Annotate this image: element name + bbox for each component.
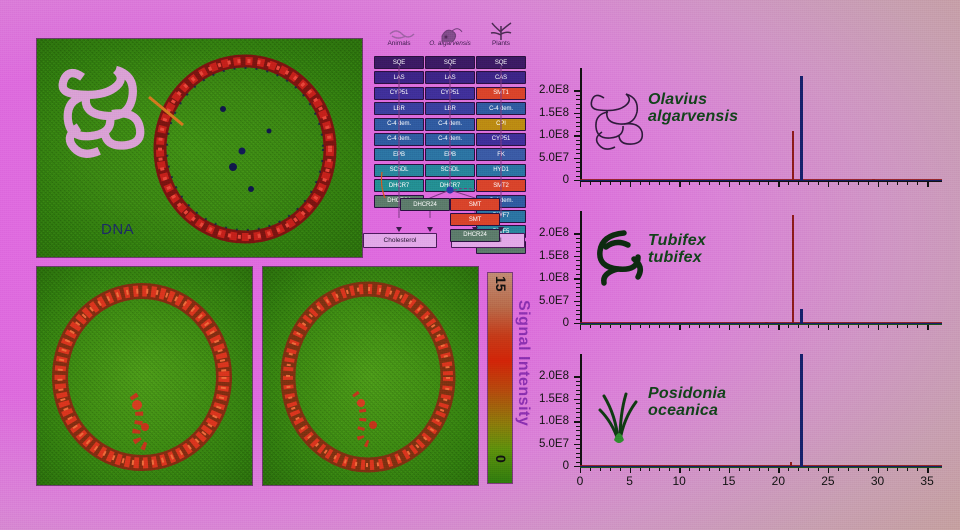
y-minor-tick	[576, 149, 580, 150]
y-minor-tick	[576, 319, 580, 320]
y-minor-tick	[576, 108, 580, 109]
y-axis	[580, 68, 582, 180]
x-minor-tick	[659, 181, 660, 185]
y-minor-tick	[576, 314, 580, 315]
y-tick-label: 2.0E8	[539, 370, 569, 382]
x-minor-tick	[699, 181, 700, 185]
x-tick-label: 20	[772, 474, 785, 488]
x-minor-tick	[838, 181, 839, 185]
x-tick	[630, 181, 631, 187]
x-minor-tick	[897, 181, 898, 185]
pathway-branch-dhcr24: DHCR24	[400, 198, 450, 213]
msi-panel-right	[262, 266, 479, 486]
worm-dark-icon	[590, 227, 650, 293]
worm-icon	[590, 88, 650, 154]
peak-sitosterol	[800, 76, 802, 180]
y-minor-tick	[576, 247, 580, 248]
y-minor-tick	[576, 167, 580, 168]
y-minor-tick	[576, 122, 580, 123]
colorbar-max-label: 15	[489, 276, 509, 292]
x-minor-tick	[907, 181, 908, 185]
x-tick	[729, 181, 730, 187]
x-minor-tick	[848, 181, 849, 185]
y-minor-tick	[576, 251, 580, 252]
y-minor-tick	[576, 269, 580, 270]
x-tick-label: 30	[871, 474, 884, 488]
x-minor-tick	[649, 181, 650, 185]
pathway-gene-box: SMT	[450, 213, 500, 226]
y-minor-tick	[576, 385, 580, 386]
y-tick-label: 2.0E8	[539, 84, 569, 96]
y-axis	[580, 354, 582, 466]
pathway-gene-box: DHCR24	[450, 229, 500, 242]
y-minor-tick	[576, 408, 580, 409]
worm-section-graphic	[37, 39, 362, 257]
y-tick	[574, 233, 580, 234]
x-minor-tick	[858, 181, 859, 185]
peak-sitosterol	[800, 309, 802, 323]
species-label: Olaviusalgarvensis	[648, 92, 738, 126]
x-minor-tick	[868, 181, 869, 185]
x-tick-label: 5	[626, 474, 633, 488]
y-tick-label: 5.0E7	[539, 152, 569, 164]
pathway-branch-smt: SMTSMTDHCR24	[450, 198, 500, 244]
x-tick	[927, 181, 928, 187]
y-tick	[574, 158, 580, 159]
x-minor-tick	[669, 181, 670, 185]
y-minor-tick	[576, 238, 580, 239]
y-minor-tick	[576, 439, 580, 440]
x-tick-label: 10	[672, 474, 685, 488]
species-label: Posidoniaoceanica	[648, 386, 726, 420]
y-minor-tick	[576, 296, 580, 297]
chromatogram-panel-olavius: 05.0E71.0E81.5E82.0E8 Olaviusalgarvensis	[540, 62, 950, 202]
y-minor-tick	[576, 95, 580, 96]
y-minor-tick	[576, 126, 580, 127]
series-baseline-baseline-green	[580, 467, 942, 468]
y-tick-label: 1.5E8	[539, 393, 569, 405]
y-minor-tick	[576, 153, 580, 154]
x-tick-label: 15	[722, 474, 735, 488]
x-minor-tick	[759, 181, 760, 185]
y-minor-tick	[576, 292, 580, 293]
x-tick-label: 35	[920, 474, 933, 488]
y-minor-tick	[576, 381, 580, 382]
colorbar-title: Signal Intensity	[514, 300, 532, 426]
x-minor-tick	[739, 181, 740, 185]
x-minor-tick	[689, 181, 690, 185]
y-tick	[574, 444, 580, 445]
y-minor-tick	[576, 274, 580, 275]
x-tick	[778, 181, 779, 187]
x-minor-tick	[808, 181, 809, 185]
chromatogram-panel-posidonia: 05.0E71.0E81.5E82.0E805101520253035 Posi…	[540, 348, 950, 488]
msi-ring-graphic-right	[263, 267, 478, 485]
y-minor-tick	[576, 426, 580, 427]
peak-cholesterol	[792, 131, 794, 180]
y-tick	[574, 135, 580, 136]
pathway-gene-box: SMT	[450, 198, 500, 211]
species-label: Tubifextubifex	[648, 233, 706, 267]
x-tick	[828, 181, 829, 187]
y-minor-tick	[576, 448, 580, 449]
pathway-gene-box: DHCR24	[400, 198, 450, 211]
y-tick-label: 1.5E8	[539, 107, 569, 119]
y-minor-tick	[576, 430, 580, 431]
y-minor-tick	[576, 140, 580, 141]
y-minor-tick	[576, 131, 580, 132]
y-minor-tick	[576, 457, 580, 458]
y-tick-label: 0	[563, 174, 569, 186]
x-minor-tick	[600, 181, 601, 185]
y-minor-tick	[576, 435, 580, 436]
x-minor-tick	[590, 181, 591, 185]
y-minor-tick	[576, 99, 580, 100]
msi-panel-left	[36, 266, 253, 486]
fish-overview-image: DNA Symbionts	[36, 38, 363, 258]
x-minor-tick	[887, 181, 888, 185]
y-tick	[574, 113, 580, 114]
y-minor-tick	[576, 104, 580, 105]
x-tick-label: 0	[577, 474, 584, 488]
y-tick	[574, 376, 580, 377]
chromatogram-panel-tubifex: 05.0E71.0E81.5E82.0E8 Tubifextubifex	[540, 205, 950, 345]
x-minor-tick	[788, 181, 789, 185]
y-tick	[574, 278, 580, 279]
series-baseline-baseline-green	[580, 324, 942, 325]
y-minor-tick	[576, 265, 580, 266]
y-tick-label: 2.0E8	[539, 227, 569, 239]
y-minor-tick	[576, 242, 580, 243]
dna-label: DNA	[101, 221, 134, 238]
y-tick-label: 1.0E8	[539, 415, 569, 427]
x-minor-tick	[709, 181, 710, 185]
y-tick	[574, 90, 580, 91]
y-minor-tick	[576, 403, 580, 404]
colorbar-min-label: 0	[489, 455, 509, 463]
y-tick	[574, 399, 580, 400]
y-minor-tick	[576, 144, 580, 145]
x-minor-tick	[610, 181, 611, 185]
x-minor-tick	[768, 181, 769, 185]
x-minor-tick	[620, 181, 621, 185]
y-minor-tick	[576, 260, 580, 261]
y-tick-label: 5.0E7	[539, 295, 569, 307]
sterol-pathway-diagram: Animals O. algarvensis Plants SQELASCYP5…	[374, 22, 526, 254]
x-tick	[679, 181, 680, 187]
x-tick	[580, 181, 581, 187]
y-tick-label: 0	[563, 317, 569, 329]
y-minor-tick	[576, 117, 580, 118]
y-minor-tick	[576, 390, 580, 391]
x-minor-tick	[719, 181, 720, 185]
symbionts-label: Symbionts	[101, 257, 176, 258]
y-minor-tick	[576, 310, 580, 311]
x-minor-tick	[640, 181, 641, 185]
y-tick-label: 1.0E8	[539, 129, 569, 141]
y-minor-tick	[576, 417, 580, 418]
y-tick	[574, 301, 580, 302]
plant-icon	[590, 382, 650, 448]
x-minor-tick	[917, 181, 918, 185]
y-tick-label: 1.0E8	[539, 272, 569, 284]
y-minor-tick	[576, 162, 580, 163]
x-minor-tick	[818, 181, 819, 185]
msi-ring-graphic-left	[37, 267, 252, 485]
y-axis	[580, 211, 582, 323]
y-minor-tick	[576, 305, 580, 306]
y-tick	[574, 256, 580, 257]
y-tick-label: 5.0E7	[539, 438, 569, 450]
y-minor-tick	[576, 176, 580, 177]
y-minor-tick	[576, 462, 580, 463]
peak-sitosterol	[800, 354, 802, 466]
x-minor-tick	[798, 181, 799, 185]
y-minor-tick	[576, 171, 580, 172]
y-minor-tick	[576, 412, 580, 413]
series-baseline-sitosterol	[580, 180, 942, 181]
y-minor-tick	[576, 283, 580, 284]
y-tick-label: 1.5E8	[539, 250, 569, 262]
peak-cholesterol	[792, 215, 794, 323]
y-minor-tick	[576, 394, 580, 395]
signal-intensity-colorbar	[487, 272, 513, 484]
x-tick-label: 25	[821, 474, 834, 488]
y-minor-tick	[576, 453, 580, 454]
y-minor-tick	[576, 287, 580, 288]
x-tick	[878, 181, 879, 187]
x-minor-tick	[749, 181, 750, 185]
y-tick	[574, 421, 580, 422]
y-tick-label: 0	[563, 460, 569, 472]
